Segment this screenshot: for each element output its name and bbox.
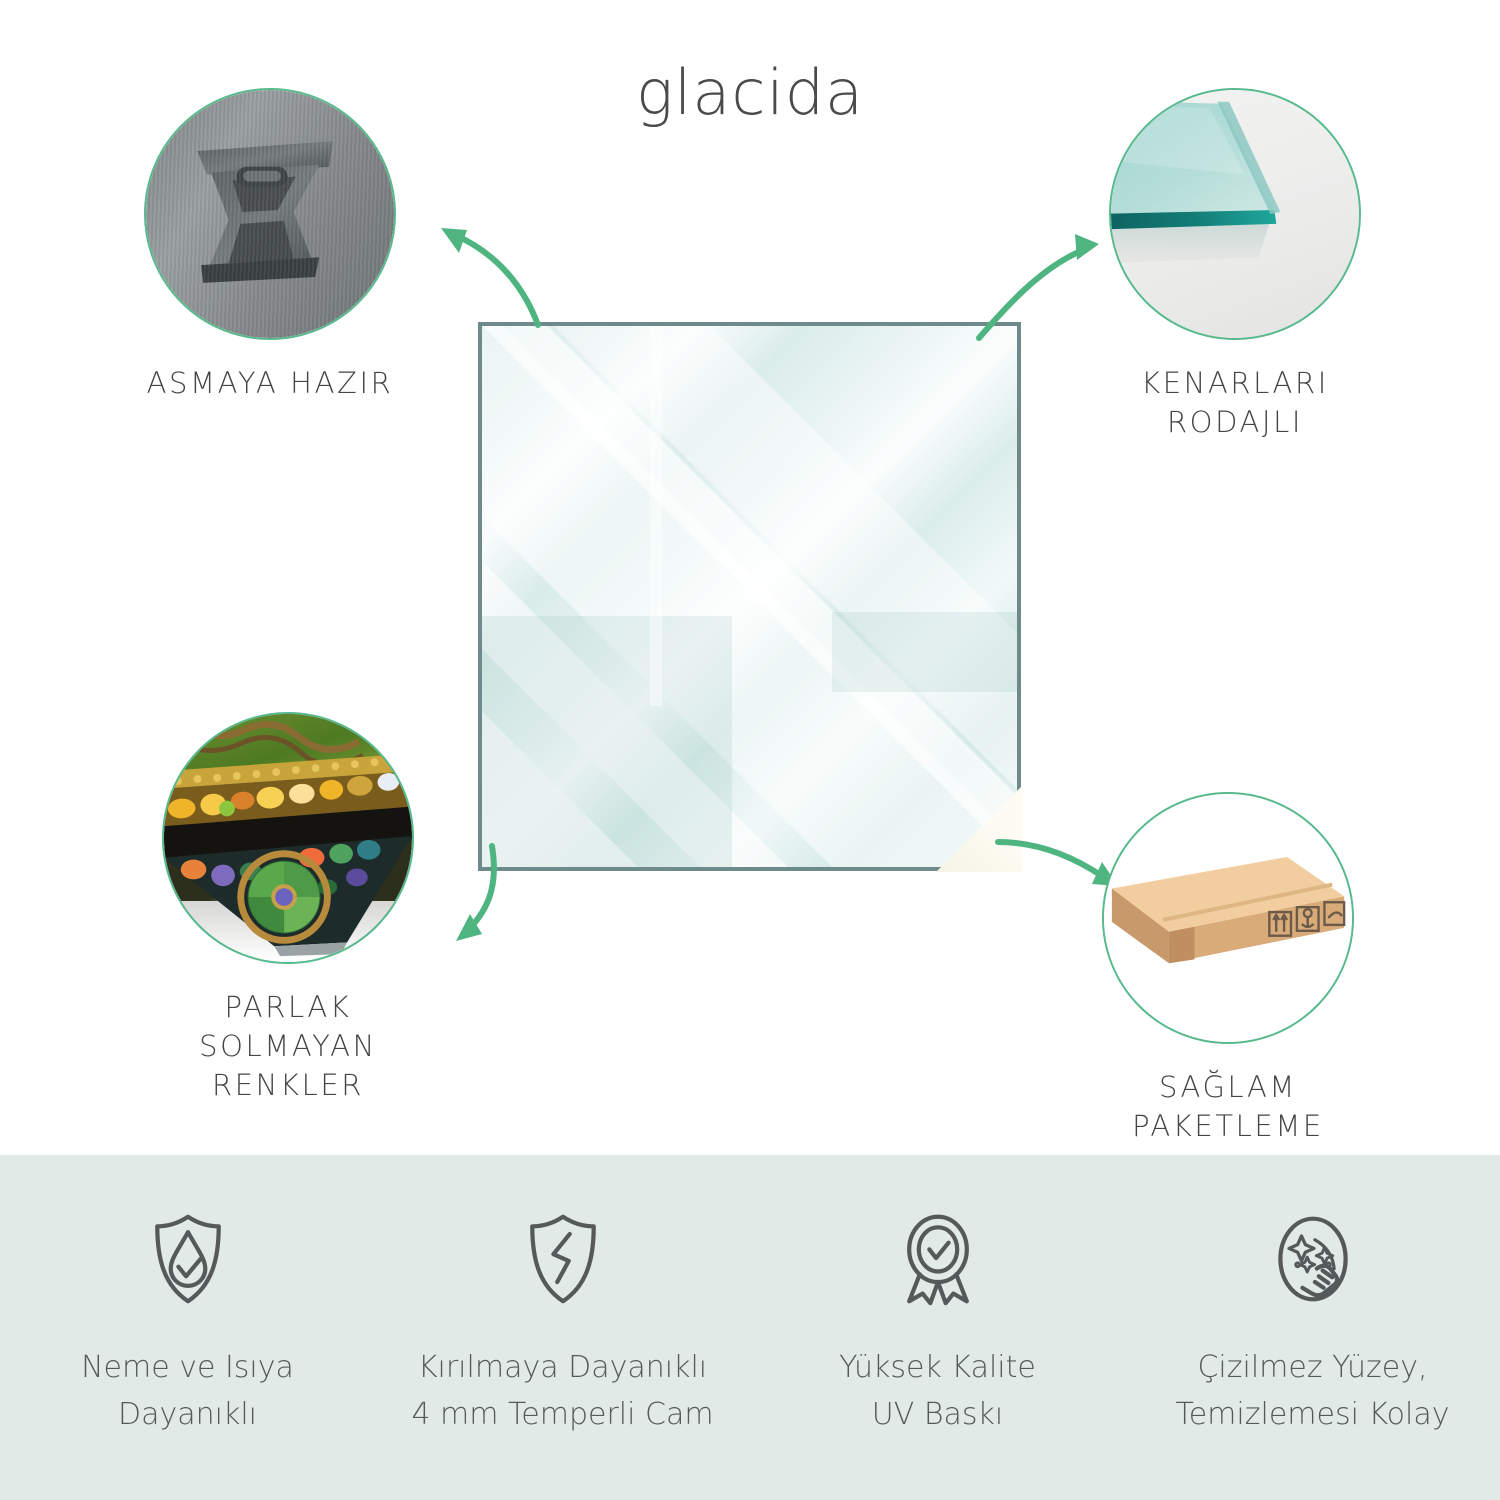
benefit-high-quality-uv: Yüksek Kalite UV Baskı [750, 1155, 1125, 1500]
benefit-label: Kırılmaya Dayanıklı 4 mm Temperli Cam [411, 1345, 713, 1438]
feature-asmaya-hazir[interactable]: ASMAYA HAZIR [120, 88, 420, 403]
feature-parlak-solmayan-renkler[interactable]: PARLAK SOLMAYAN RENKLER [138, 712, 438, 1105]
sparkle-hand-wipe-icon [1265, 1211, 1361, 1307]
benefit-moisture-heat: Neme ve Isıya Dayanıklı [0, 1155, 375, 1500]
glass-reflection [482, 616, 732, 871]
award-ribbon-check-icon [890, 1211, 986, 1307]
benefit-break-resistant: Kırılmaya Dayanıklı 4 mm Temperli Cam [375, 1155, 750, 1500]
stained-glass-mosaic-photo [164, 714, 412, 962]
polished-glass-edge-photo [1111, 90, 1359, 338]
shield-droplet-check-icon [140, 1211, 236, 1307]
feature-circle-frame [144, 88, 396, 340]
benefit-label: Yüksek Kalite UV Baskı [839, 1345, 1036, 1438]
feature-label: ASMAYA HAZIR [120, 364, 420, 403]
feature-circle-frame [1102, 792, 1354, 1044]
product-glass-panel [478, 322, 1021, 871]
feature-label: SAĞLAM PAKETLEME [1078, 1068, 1378, 1146]
wall-mount-bracket-photo [146, 90, 394, 338]
benefit-label: Neme ve Isıya Dayanıklı [81, 1345, 294, 1438]
glass-reflection [650, 326, 662, 706]
shield-bolt-icon [515, 1211, 611, 1307]
feature-saglam-paketleme[interactable]: SAĞLAM PAKETLEME [1078, 792, 1378, 1146]
cardboard-box-photo [1104, 794, 1352, 1042]
feature-label: PARLAK SOLMAYAN RENKLER [138, 988, 438, 1105]
benefit-scratch-free: Çizilmez Yüzey, Temizlemesi Kolay [1125, 1155, 1500, 1500]
glass-reflection [832, 612, 1021, 692]
feature-circle-frame [162, 712, 414, 964]
benefit-label: Çizilmez Yüzey, Temizlemesi Kolay [1176, 1345, 1450, 1438]
feature-label: KENARLARI RODAJLI [1085, 364, 1385, 442]
feature-kenarlari-rodajli[interactable]: KENARLARI RODAJLI [1085, 88, 1385, 442]
benefits-strip: Neme ve Isıya Dayanıklı Kırılmaya Dayanı… [0, 1155, 1500, 1500]
feature-circle-frame [1109, 88, 1361, 340]
infographic-canvas: glacida [0, 0, 1500, 1500]
